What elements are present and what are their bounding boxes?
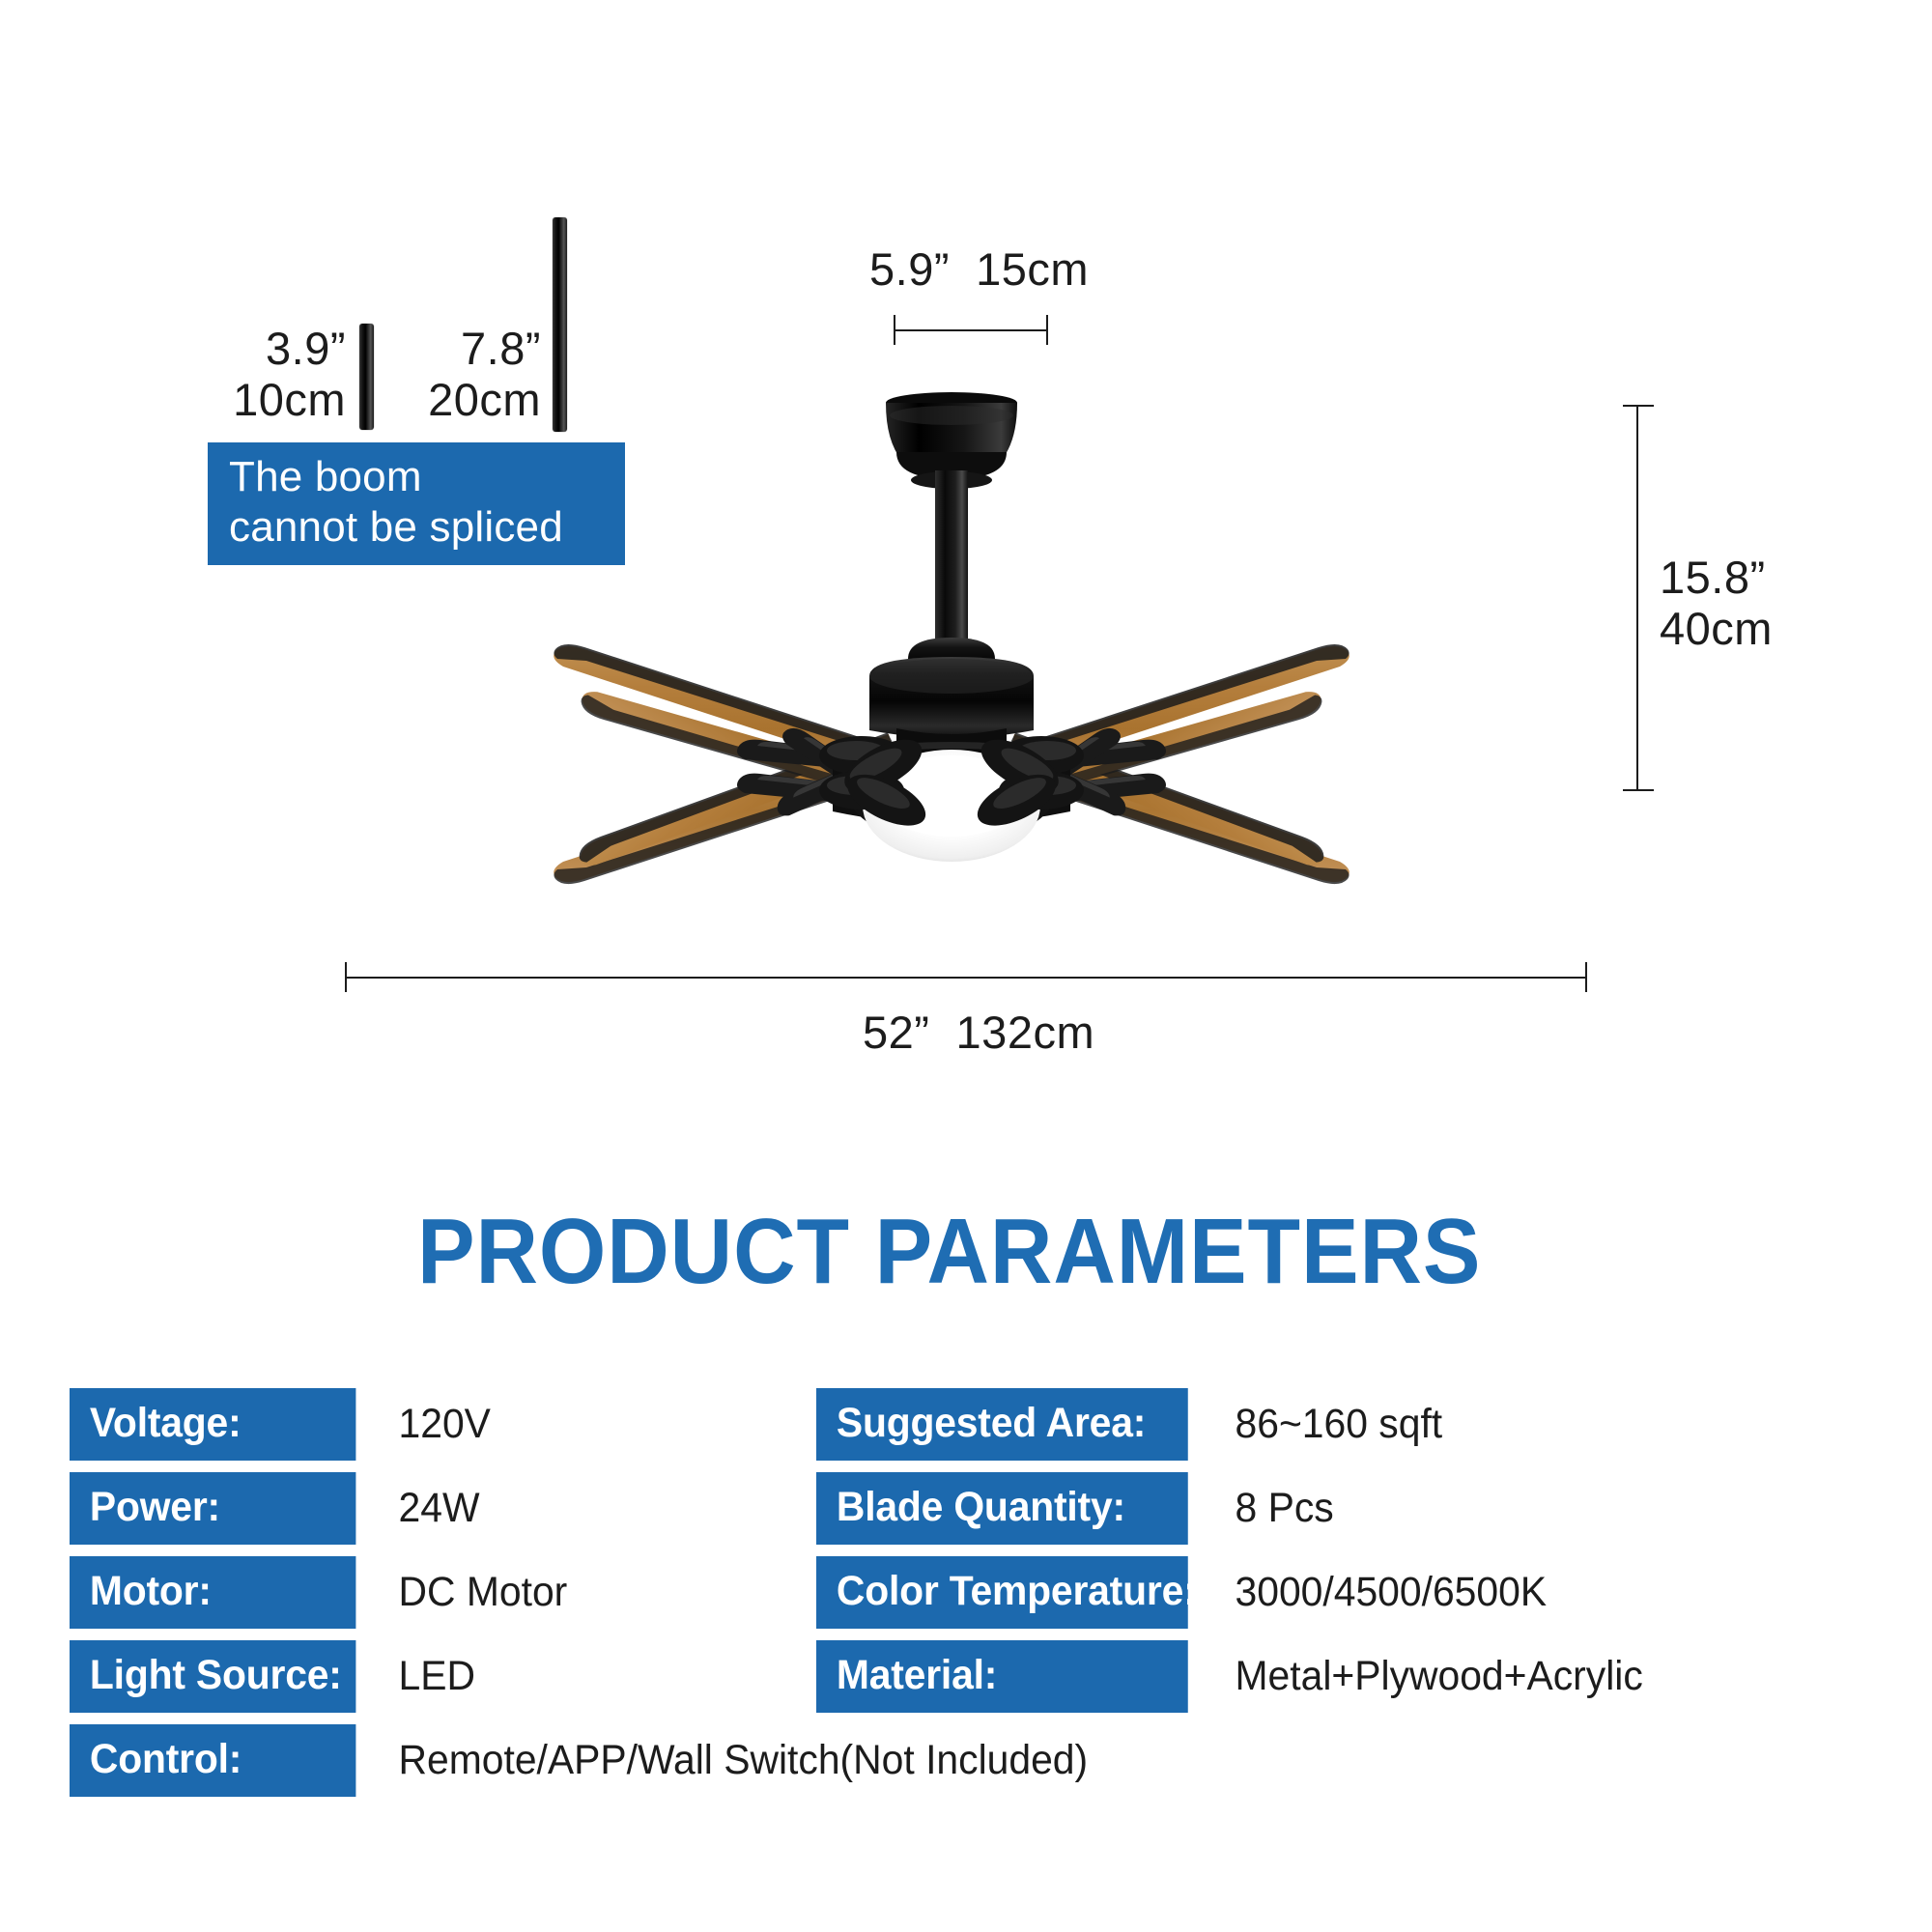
page-title: PRODUCT PARAMETERS: [417, 1199, 1481, 1305]
fan-downrod: [935, 470, 968, 668]
spec-key-material: Material:: [816, 1640, 1188, 1713]
spec-row: Suggested Area: 86~160 sqft: [816, 1388, 1666, 1461]
span-dimension-label: 52” 132cm: [863, 1008, 1094, 1059]
canopy-dimension-line: [894, 329, 1048, 331]
spec-value-color-temperature: 3000/4500/6500K: [1207, 1556, 1547, 1613]
spec-row: Control: Remote/APP/Wall Switch(Not Incl…: [70, 1724, 1125, 1797]
spec-value-control: Remote/APP/Wall Switch(Not Included): [371, 1724, 1088, 1781]
canopy-dimension-tick-left: [894, 315, 895, 345]
spec-value-light-source: LED: [371, 1640, 475, 1697]
fan-blade-arms: [737, 724, 1166, 830]
canopy-width-dimension-label: 5.9” 15cm: [869, 244, 1089, 296]
spec-value-suggested-area: 86~160 sqft: [1207, 1388, 1442, 1445]
fan-light-hub: [833, 742, 1070, 840]
canopy-dimension-tick-right: [1046, 315, 1048, 345]
spec-key-suggested-area: Suggested Area:: [816, 1388, 1188, 1461]
spec-value-voltage: 120V: [371, 1388, 491, 1445]
boom-splice-warning-callout: The boom cannot be spliced: [208, 442, 625, 565]
spec-key-voltage: Voltage:: [70, 1388, 355, 1461]
fan-canopy: [886, 392, 1017, 489]
rod-small-dimension-label: 3.9” 10cm: [220, 324, 346, 425]
product-spec-page: 3.9” 10cm 7.8” 20cm The boom cannot be s…: [0, 0, 1932, 1932]
fan-led-light: [863, 750, 1040, 862]
downrod-sample-10cm: [359, 324, 374, 430]
downrod-sample-20cm: [553, 217, 567, 432]
fan-blade-knobs: [819, 729, 1084, 837]
spec-key-light-source: Light Source:: [70, 1640, 355, 1713]
height-dimension-tick-bottom: [1623, 789, 1654, 791]
spec-value-motor: DC Motor: [371, 1556, 567, 1613]
spec-key-blade-quantity: Blade Quantity:: [816, 1472, 1188, 1545]
spec-value-blade-quantity: 8 Pcs: [1207, 1472, 1334, 1529]
fan-motor-housing: [869, 638, 1034, 776]
spec-key-color-temperature: Color Temperature:: [816, 1556, 1188, 1629]
spec-key-power: Power:: [70, 1472, 355, 1545]
fan-blades: [554, 605, 1350, 948]
spec-value-power: 24W: [371, 1472, 480, 1529]
spec-key-control: Control:: [70, 1724, 355, 1797]
spec-value-material: Metal+Plywood+Acrylic: [1207, 1640, 1643, 1697]
span-dimension-line: [345, 977, 1587, 979]
spec-table-right-column: Suggested Area: 86~160 sqft Blade Quanti…: [816, 1388, 1666, 1724]
span-dimension-tick-left: [345, 962, 347, 992]
height-dimension-label: 15.8” 40cm: [1660, 553, 1773, 654]
spec-row: Blade Quantity: 8 Pcs: [816, 1472, 1666, 1545]
spec-row: Color Temperature: 3000/4500/6500K: [816, 1556, 1666, 1629]
rod-large-dimension-label: 7.8” 20cm: [415, 324, 541, 425]
span-dimension-tick-right: [1585, 962, 1587, 992]
spec-key-motor: Motor:: [70, 1556, 355, 1629]
height-dimension-line: [1636, 405, 1638, 791]
height-dimension-tick-top: [1623, 405, 1654, 407]
spec-row: Material: Metal+Plywood+Acrylic: [816, 1640, 1666, 1713]
